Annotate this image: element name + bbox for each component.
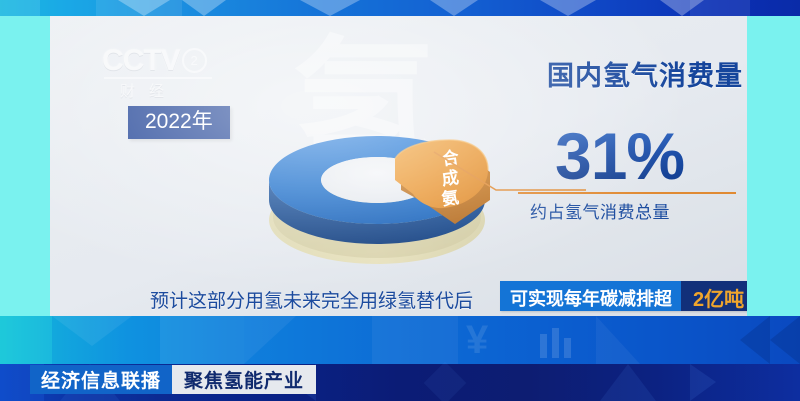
topbar-triangle-icon [182,0,226,16]
topbar-block [0,0,40,16]
background-ghost-glyph: 氢 [290,34,446,184]
year-tag: 2022年 [128,106,230,139]
chart-slice-label-char: 成 [440,167,460,189]
left-cyan-rail [0,16,50,316]
channel-sub-label: 财经 [120,80,178,101]
bottom-banner: ¥ 经济信息联播 聚焦氢能产业 [0,316,800,401]
banner-triangle-icon [740,316,770,364]
top-decorative-bar [0,0,800,16]
banner-triangle-icon [770,316,800,364]
banner-bar-icon [540,334,547,358]
logo-rule [104,77,212,79]
program-name-tag: 经济信息联播 [30,365,172,394]
chart-slice-label-char: 氨 [440,187,460,209]
stat-underline [518,192,736,194]
banner-triangle-icon [600,364,656,401]
infographic-panel: 氢 CCTV2 财经 2022年 国内氢气消费量 [50,16,747,316]
topbar-triangle-icon [540,0,596,16]
channel-logo-text: CCTV [102,44,180,77]
banner-triangle-icon [52,316,132,346]
topbar-triangle-icon [118,0,170,16]
pill-value: 2亿吨 [681,281,747,311]
banner-bar-icon [564,338,571,358]
topbar-triangle-icon [430,0,478,16]
banner-bar-icon [552,328,559,358]
page-title: 国内氢气消费量 [547,54,743,93]
topic-tag: 聚焦氢能产业 [172,365,316,394]
broadcast-screen: 氢 CCTV2 财经 2022年 国内氢气消费量 [0,0,800,401]
pill-label: 可实现每年碳减排超 [500,281,681,311]
right-cyan-rail [747,16,800,316]
banner-triangle-icon [596,316,640,364]
chart-slice-label-char: 合 [440,147,461,169]
cctv-channel-logo: CCTV2 财经 [102,44,218,98]
banner-block [0,316,52,364]
banner-triangle-icon [690,364,716,401]
highlight-pill: 可实现每年碳减排超 2亿吨 [500,281,747,311]
banner-block [160,316,244,364]
banner-triangle-icon [244,316,296,364]
chart-leader-line [430,144,590,216]
topbar-triangle-icon [660,0,704,16]
stat-value: 31% [555,123,684,189]
channel-number: 2 [182,48,207,73]
stat-subtitle: 约占氢气消费总量 [530,198,670,223]
caption-text: 预计这部分用氢未来完全用绿氢替代后 [150,286,473,313]
yen-symbol-icon: ¥ [466,320,488,360]
donut-chart: 合 成 氨 [255,128,505,268]
banner-block [372,316,458,364]
topbar-triangle-icon [300,0,360,16]
donut-chart-svg: 合 成 氨 [255,128,505,268]
